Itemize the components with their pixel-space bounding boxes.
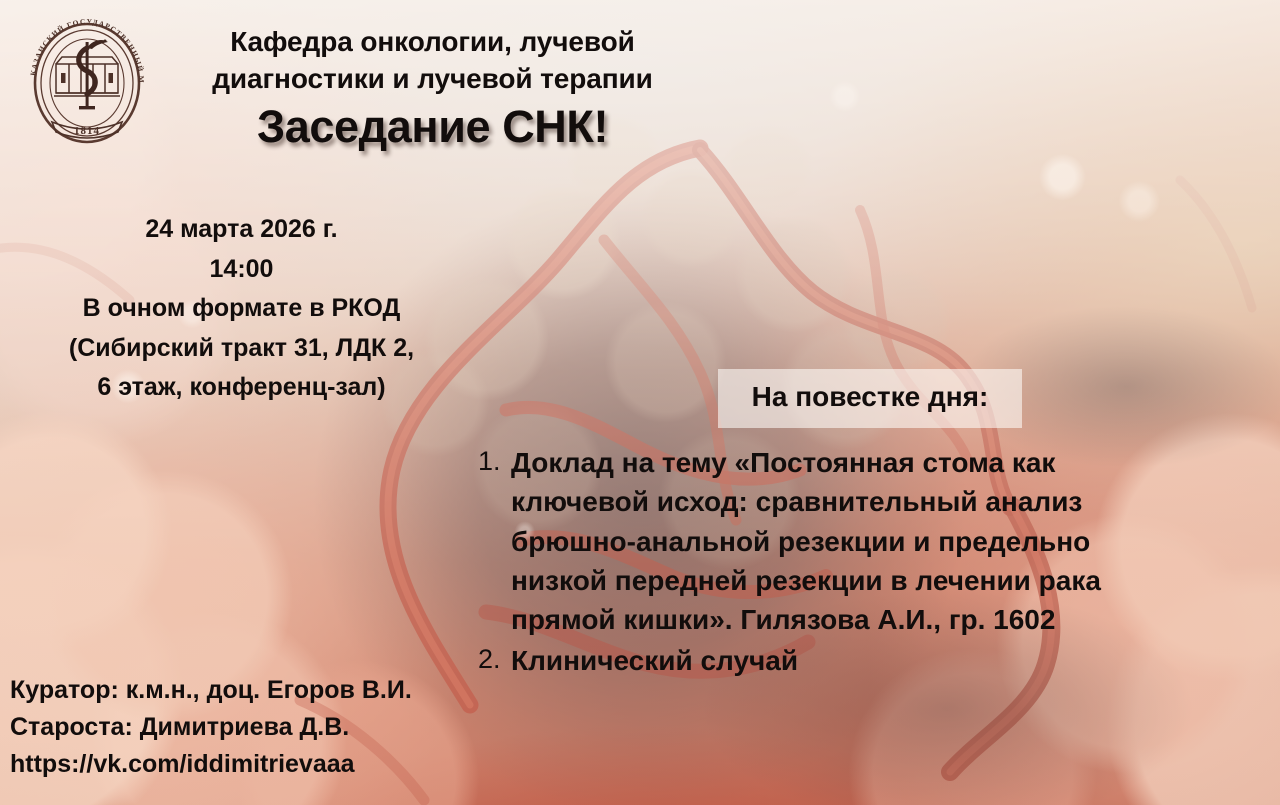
- department-title: Кафедра онкологии, лучевой диагностики и…: [160, 24, 705, 98]
- event-title: Заседание СНК!: [160, 103, 705, 152]
- svg-text:1814: 1814: [74, 125, 100, 137]
- agenda-list: Доклад на тему «Постоянная стома как клю…: [478, 443, 1178, 681]
- event-datetime-location: 24 марта 2026 г. 14:00 В очном формате в…: [14, 210, 469, 408]
- agenda-item: Клинический случай: [478, 641, 1178, 680]
- poster-canvas: КАЗАНСКИЙ ГОСУДАРСТВЕННЫЙ МЕДИЦИНСКИЙ УН…: [0, 0, 1280, 805]
- university-seal-icon: КАЗАНСКИЙ ГОСУДАРСТВЕННЫЙ МЕДИЦИНСКИЙ УН…: [26, 18, 148, 148]
- contacts-block: Куратор: к.м.н., доц. Егоров В.И. Старос…: [10, 672, 530, 783]
- agenda-heading: На повестке дня:: [718, 380, 1022, 413]
- agenda-item: Доклад на тему «Постоянная стома как клю…: [478, 443, 1178, 640]
